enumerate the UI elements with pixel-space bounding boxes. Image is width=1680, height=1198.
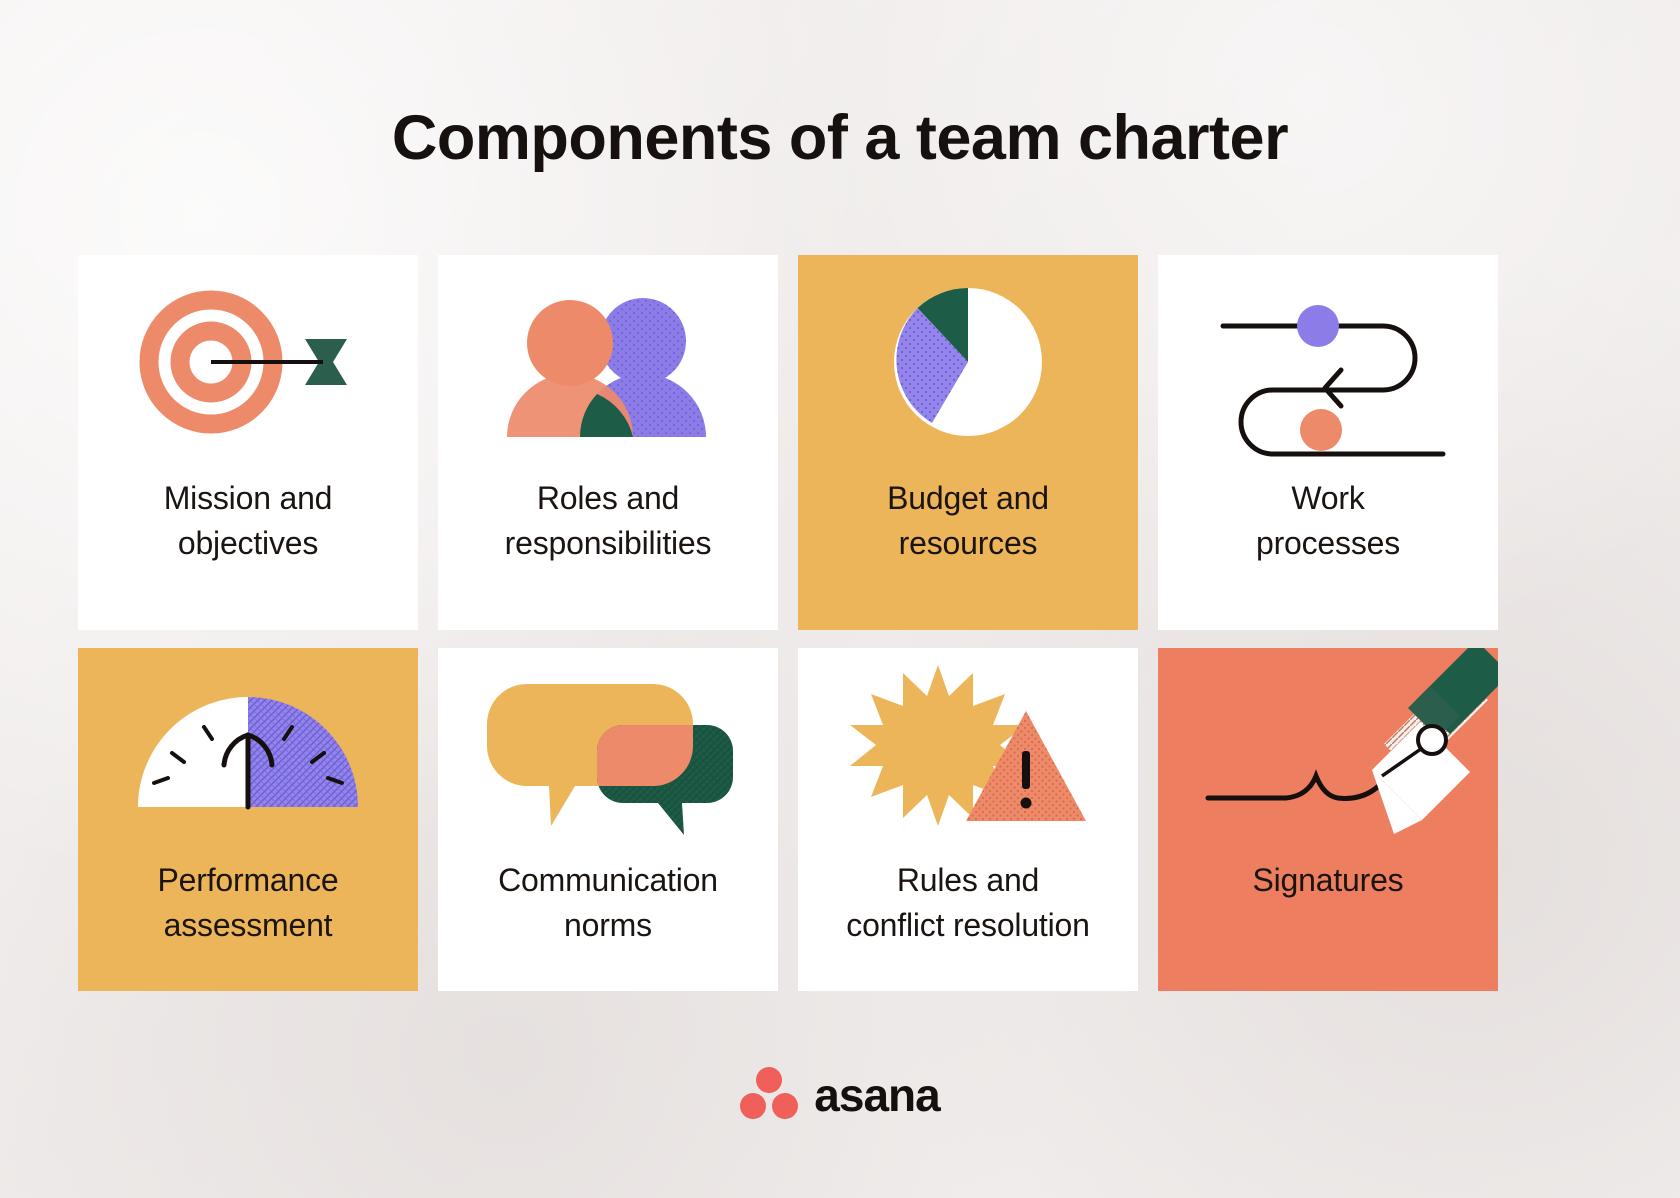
card-label-line-1: Work [1172, 476, 1484, 521]
fountain-pen-signature-icon [1158, 648, 1498, 848]
asana-logo-mark [740, 1066, 798, 1120]
card-label-line-1: Performance [92, 858, 404, 903]
card-label-line-2: responsibilities [452, 521, 764, 566]
card-label: Work processes [1158, 476, 1498, 567]
asana-wordmark: asana [814, 1072, 939, 1118]
card-label: Communication norms [438, 858, 778, 949]
card-label-line-1: Roles and [452, 476, 764, 521]
card-label: Roles and responsibilities [438, 476, 778, 567]
card-budget-and-resources[interactable]: Budget and resources [798, 255, 1138, 630]
speech-bubbles-icon [438, 648, 778, 848]
card-signatures[interactable]: Signatures [1158, 648, 1498, 991]
card-label-line-2: objectives [92, 521, 404, 566]
card-label: Mission and objectives [78, 476, 418, 567]
card-mission-and-objectives[interactable]: Mission and objectives [78, 255, 418, 630]
card-label-line-2: resources [812, 521, 1124, 566]
card-label-line-2: norms [452, 903, 764, 948]
card-label: Rules and conflict resolution [798, 858, 1138, 949]
card-label: Budget and resources [798, 476, 1138, 567]
gauge-meter-icon [78, 648, 418, 848]
card-label-line-2: conflict resolution [812, 903, 1124, 948]
target-arrow-icon [78, 255, 418, 468]
starburst-warning-icon [798, 648, 1138, 848]
card-label-line-1: Rules and [812, 858, 1124, 903]
two-people-icon [438, 255, 778, 468]
footer-branding: asana [0, 1066, 1680, 1120]
card-label: Signatures [1158, 858, 1498, 903]
card-work-processes[interactable]: Work processes [1158, 255, 1498, 630]
infographic-page: Components of a team charter Mission and… [0, 0, 1680, 1198]
card-roles-and-responsibilities[interactable]: Roles and responsibilities [438, 255, 778, 630]
card-performance-assessment[interactable]: Performance assessment [78, 648, 418, 991]
card-communication-norms[interactable]: Communication norms [438, 648, 778, 991]
card-rules-and-conflict-resolution[interactable]: Rules and conflict resolution [798, 648, 1138, 991]
process-flow-icon [1158, 255, 1498, 468]
card-label: Performance assessment [78, 858, 418, 949]
card-label-line-1: Communication [452, 858, 764, 903]
card-label-line-1: Budget and [812, 476, 1124, 521]
page-title: Components of a team charter [0, 104, 1680, 173]
card-grid: Mission and objectives [78, 255, 1602, 991]
card-label-line-1: Signatures [1172, 858, 1484, 903]
card-label-line-2: assessment [92, 903, 404, 948]
pie-chart-icon [798, 255, 1138, 468]
card-label-line-1: Mission and [92, 476, 404, 521]
card-label-line-2: processes [1172, 521, 1484, 566]
